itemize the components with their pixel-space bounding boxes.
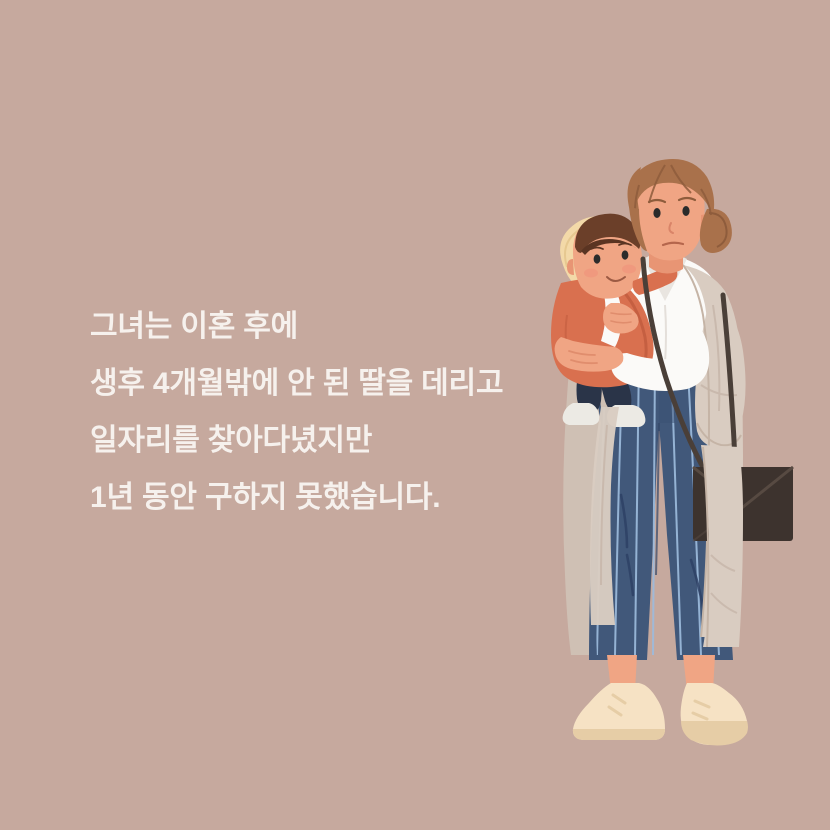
caption-line-3: 일자리를 찾아다녔지만 (90, 412, 520, 469)
shoes (573, 683, 748, 745)
cardigan-right-hem (701, 445, 743, 647)
caption-line-1: 그녀는 이혼 후에 (90, 298, 520, 355)
caption-line-4: 1년 동안 구하지 못했습니다. (90, 469, 520, 526)
quote-caption: 그녀는 이혼 후에 생후 4개월밖에 안 된 딸을 데리고 일자리를 찾아다녔지… (90, 298, 520, 526)
mother-head (628, 159, 732, 274)
mother-holding-baby-illustration (515, 155, 830, 815)
caption-line-2: 생후 4개월밖에 안 된 딸을 데리고 (90, 355, 520, 412)
social-quote-card: 그녀는 이혼 후에 생후 4개월밖에 안 된 딸을 데리고 일자리를 찾아다녔지… (0, 0, 830, 830)
